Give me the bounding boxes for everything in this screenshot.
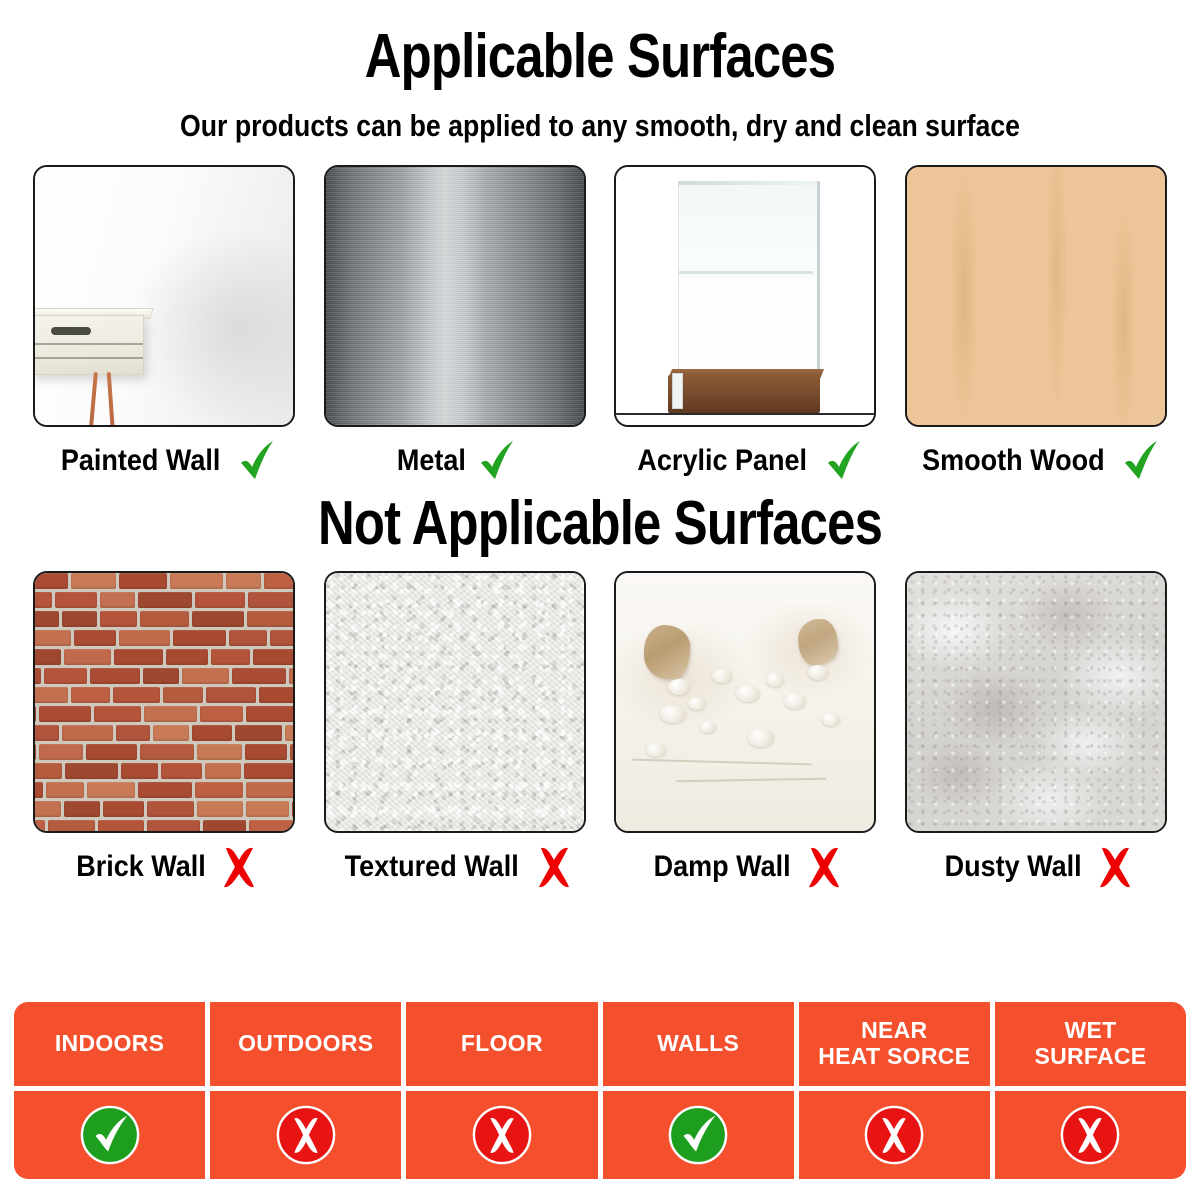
brick-unit xyxy=(71,573,116,589)
brick-unit xyxy=(86,744,137,760)
usage-matrix-status-indoors[interactable] xyxy=(14,1091,205,1179)
brick-unit xyxy=(34,630,71,646)
brick-unit xyxy=(138,592,192,608)
brick-unit xyxy=(33,725,59,741)
brick-unit xyxy=(94,706,141,722)
metal-caption: Metal xyxy=(393,439,516,483)
brick-unit xyxy=(64,801,100,817)
brick-unit xyxy=(173,630,226,646)
surface-card-smooth-wood: Smooth Wood xyxy=(902,165,1170,483)
brick-unit xyxy=(197,801,243,817)
brick-unit xyxy=(33,782,43,798)
page-title-applicable: Applicable Surfaces xyxy=(108,0,1092,88)
brick-unit xyxy=(33,573,68,589)
damp-wall-caption: Damp Wall xyxy=(646,845,844,889)
surface-card-damp-wall: Damp Wall xyxy=(611,571,879,889)
brick-unit xyxy=(33,668,41,684)
red-x-icon xyxy=(534,845,574,889)
brick-unit xyxy=(103,801,144,817)
surface-label: Damp Wall xyxy=(654,852,791,882)
brick-unit xyxy=(249,820,295,833)
brick-unit xyxy=(292,801,295,817)
brick-unit xyxy=(33,820,45,833)
brick-unit xyxy=(140,611,189,627)
brick-unit xyxy=(147,820,200,833)
damp-wall-thumbnail xyxy=(614,571,876,833)
brick-unit xyxy=(39,706,91,722)
dusty-wall-caption: Dusty Wall xyxy=(937,845,1135,889)
surface-label: Painted Wall xyxy=(61,446,221,476)
brick-unit xyxy=(98,820,144,833)
brick-unit xyxy=(140,744,194,760)
brick-unit xyxy=(62,725,113,741)
green-check-icon xyxy=(1120,439,1160,483)
dusty-wall-thumbnail xyxy=(905,571,1167,833)
brick-unit xyxy=(246,706,295,722)
usage-matrix-header-label: FLOOR xyxy=(461,1031,543,1057)
surface-card-acrylic-panel: Acrylic Panel xyxy=(611,165,879,483)
brick-unit xyxy=(285,725,295,741)
usage-matrix-header-label: NEAR HEAT SORCE xyxy=(818,1018,970,1070)
brushed-metal-art xyxy=(326,167,584,425)
brick-unit xyxy=(192,611,244,627)
usage-matrix-header-label: OUTDOORS xyxy=(238,1031,373,1057)
brick-unit xyxy=(264,573,295,589)
usage-matrix-header-walls[interactable]: WALLS xyxy=(603,1002,794,1086)
brick-unit xyxy=(235,725,282,741)
brick-unit xyxy=(182,668,229,684)
brick-unit xyxy=(290,744,295,760)
brick-unit xyxy=(90,668,140,684)
brick-unit xyxy=(116,725,150,741)
surface-label: Acrylic Panel xyxy=(638,446,808,476)
brick-unit xyxy=(121,763,158,779)
brick-unit xyxy=(71,687,110,703)
applicable-surface-grid: Painted Wall Metal xyxy=(0,165,1200,483)
red-x-icon xyxy=(804,845,844,889)
brick-unit xyxy=(226,573,261,589)
page-subtitle: Our products can be applied to any smoot… xyxy=(84,110,1116,141)
brick-unit xyxy=(161,763,202,779)
usage-matrix-status-outdoors[interactable] xyxy=(210,1091,401,1179)
brick-unit xyxy=(229,630,267,646)
smooth-wood-thumbnail xyxy=(905,165,1167,427)
brick-unit xyxy=(48,820,95,833)
usage-matrix-header-wet-surface[interactable]: WET SURFACE xyxy=(995,1002,1186,1086)
brick-unit xyxy=(143,668,179,684)
brick-unit xyxy=(55,592,97,608)
smooth-wood-art xyxy=(907,167,1165,425)
brick-unit xyxy=(119,573,167,589)
brick-unit xyxy=(248,592,295,608)
dusty-wall-art xyxy=(907,573,1165,831)
brick-unit xyxy=(33,763,62,779)
brick-unit xyxy=(245,744,287,760)
surface-card-textured-wall: Textured Wall xyxy=(321,571,589,889)
usage-matrix-status-floor[interactable] xyxy=(406,1091,597,1179)
smooth-wood-caption: Smooth Wood xyxy=(912,439,1161,483)
usage-matrix-header-row: INDOORSOUTDOORSFLOORWALLSNEAR HEAT SORCE… xyxy=(14,1002,1186,1086)
brick-unit xyxy=(64,649,111,665)
painted-wall-thumbnail xyxy=(33,165,295,427)
brick-unit xyxy=(200,706,243,722)
circle-check-badge-icon xyxy=(667,1104,729,1166)
brick-unit xyxy=(74,630,116,646)
usage-matrix-header-label: WALLS xyxy=(657,1031,739,1057)
brick-unit xyxy=(253,649,295,665)
circle-check-badge-icon xyxy=(79,1104,141,1166)
brick-unit xyxy=(244,763,295,779)
brick-unit xyxy=(163,687,203,703)
usage-matrix-header-near-heat-sorce[interactable]: NEAR HEAT SORCE xyxy=(799,1002,990,1086)
brick-unit xyxy=(170,573,223,589)
red-x-icon xyxy=(219,845,259,889)
brick-unit xyxy=(44,668,87,684)
circle-x-badge-icon xyxy=(1059,1104,1121,1166)
usage-matrix-header-indoors[interactable]: INDOORS xyxy=(14,1002,205,1086)
brick-unit xyxy=(153,725,189,741)
surface-label: Brick Wall xyxy=(76,852,206,882)
acrylic-panel-art xyxy=(616,167,874,425)
brick-unit xyxy=(113,687,160,703)
brick-unit xyxy=(206,687,256,703)
painted-wall-caption: Painted Wall xyxy=(52,439,275,483)
textured-wall-caption: Textured Wall xyxy=(335,845,574,889)
usage-matrix-status-wet-surface[interactable] xyxy=(995,1091,1186,1179)
brick-wall-caption: Brick Wall xyxy=(69,845,259,889)
brick-wall-art xyxy=(35,573,293,831)
surface-label: Smooth Wood xyxy=(922,446,1104,476)
brick-unit xyxy=(65,763,118,779)
brick-unit xyxy=(195,782,243,798)
brick-unit xyxy=(39,744,83,760)
painted-wall-art xyxy=(35,167,293,425)
damp-wall-art xyxy=(616,573,874,831)
brick-unit xyxy=(197,744,242,760)
brick-wall-thumbnail xyxy=(33,571,295,833)
usage-matrix-status-walls[interactable] xyxy=(603,1091,794,1179)
green-check-icon xyxy=(236,439,276,483)
brick-unit xyxy=(119,630,170,646)
metal-thumbnail xyxy=(324,165,586,427)
brick-unit xyxy=(247,611,295,627)
red-x-icon xyxy=(1095,845,1135,889)
circle-x-badge-icon xyxy=(863,1104,925,1166)
brick-unit xyxy=(33,592,52,608)
textured-wall-art xyxy=(326,573,584,831)
brick-unit xyxy=(270,630,295,646)
brick-unit xyxy=(33,687,68,703)
brick-unit xyxy=(46,782,84,798)
surface-card-painted-wall: Painted Wall xyxy=(30,165,298,483)
brick-unit xyxy=(259,687,295,703)
usage-matrix-header-label: INDOORS xyxy=(55,1031,164,1057)
usage-matrix-header-floor[interactable]: FLOOR xyxy=(406,1002,597,1086)
green-check-icon xyxy=(476,439,516,483)
acrylic-panel-thumbnail xyxy=(614,165,876,427)
brick-unit xyxy=(87,782,135,798)
brick-unit xyxy=(62,611,97,627)
usage-matrix-header-outdoors[interactable]: OUTDOORS xyxy=(210,1002,401,1086)
circle-x-badge-icon xyxy=(471,1104,533,1166)
brick-unit xyxy=(211,649,250,665)
brick-unit xyxy=(205,763,241,779)
usage-matrix-badge-row xyxy=(14,1091,1186,1179)
surface-card-metal: Metal xyxy=(321,165,589,483)
usage-matrix-status-near-heat-sorce[interactable] xyxy=(799,1091,990,1179)
brick-unit xyxy=(33,706,36,722)
surface-card-dusty-wall: Dusty Wall xyxy=(902,571,1170,889)
brick-unit xyxy=(192,725,232,741)
usage-matrix: INDOORSOUTDOORSFLOORWALLSNEAR HEAT SORCE… xyxy=(14,1002,1186,1179)
brick-unit xyxy=(203,820,246,833)
brick-unit xyxy=(144,706,197,722)
page-title-not-applicable: Not Applicable Surfaces xyxy=(108,483,1092,555)
brick-unit xyxy=(147,801,194,817)
brick-unit xyxy=(114,649,163,665)
brick-unit xyxy=(33,801,61,817)
not-applicable-surface-grid: Brick Wall Textured Wall xyxy=(0,571,1200,889)
green-check-icon xyxy=(823,439,863,483)
surface-label: Dusty Wall xyxy=(944,852,1081,882)
textured-wall-thumbnail xyxy=(324,571,586,833)
surface-label: Textured Wall xyxy=(345,852,519,882)
usage-matrix-header-label: WET SURFACE xyxy=(1034,1018,1146,1070)
brick-unit xyxy=(289,668,295,684)
brick-unit xyxy=(33,611,59,627)
brick-unit xyxy=(138,782,192,798)
brick-unit xyxy=(33,744,36,760)
brick-unit xyxy=(232,668,286,684)
acrylic-panel-caption: Acrylic Panel xyxy=(628,439,862,483)
brick-unit xyxy=(100,592,135,608)
brick-unit xyxy=(100,611,137,627)
surface-card-brick-wall: Brick Wall xyxy=(30,571,298,889)
brick-unit xyxy=(246,801,289,817)
brick-unit xyxy=(33,649,61,665)
brick-unit xyxy=(246,782,295,798)
surface-label: Metal xyxy=(397,446,466,476)
brick-unit xyxy=(195,592,245,608)
circle-x-badge-icon xyxy=(275,1104,337,1166)
brick-unit xyxy=(166,649,208,665)
